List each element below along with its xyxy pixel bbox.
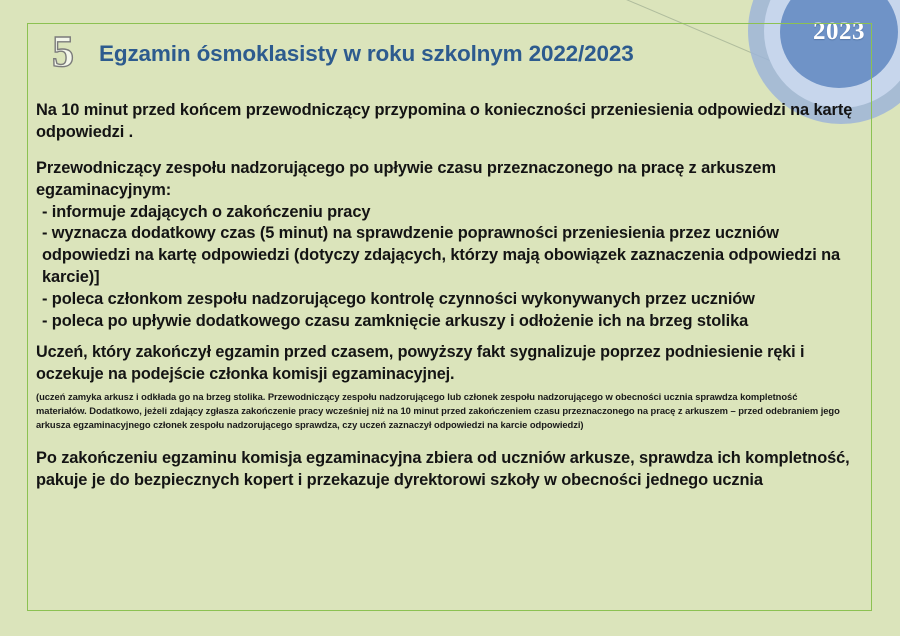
- list-item: - poleca członkom zespołu nadzorującego …: [36, 289, 864, 311]
- slide-canvas: 2023 5 Egzamin ósmoklasisty w roku szkol…: [0, 0, 900, 636]
- page-title: Egzamin ósmoklasisty w roku szkolnym 202…: [99, 41, 634, 67]
- slide-number-badge: 5: [27, 30, 99, 78]
- slide-header: 5 Egzamin ósmoklasisty w roku szkolnym 2…: [27, 23, 872, 85]
- slide-body: Na 10 minut przed końcem przewodniczący …: [36, 99, 864, 491]
- fineprint-note: (uczeń zamyka arkusz i odkłada go na brz…: [36, 390, 848, 433]
- paragraph-early-finish: Uczeń, który zakończył egzamin przed cza…: [36, 342, 864, 385]
- paragraph-reminder: Na 10 minut przed końcem przewodniczący …: [36, 99, 864, 143]
- list-item: - wyznacza dodatkowy czas (5 minut) na s…: [36, 223, 864, 288]
- list-item: - poleca po upływie dodatkowego czasu za…: [36, 311, 864, 333]
- paragraph-chairperson-intro: Przewodniczący zespołu nadzorującego po …: [36, 157, 864, 201]
- chairperson-duties-list: - informuje zdających o zakończeniu prac…: [36, 202, 864, 333]
- paragraph-after-exam: Po zakończeniu egzaminu komisja egzamina…: [36, 447, 864, 492]
- list-item: - informuje zdających o zakończeniu prac…: [36, 202, 864, 224]
